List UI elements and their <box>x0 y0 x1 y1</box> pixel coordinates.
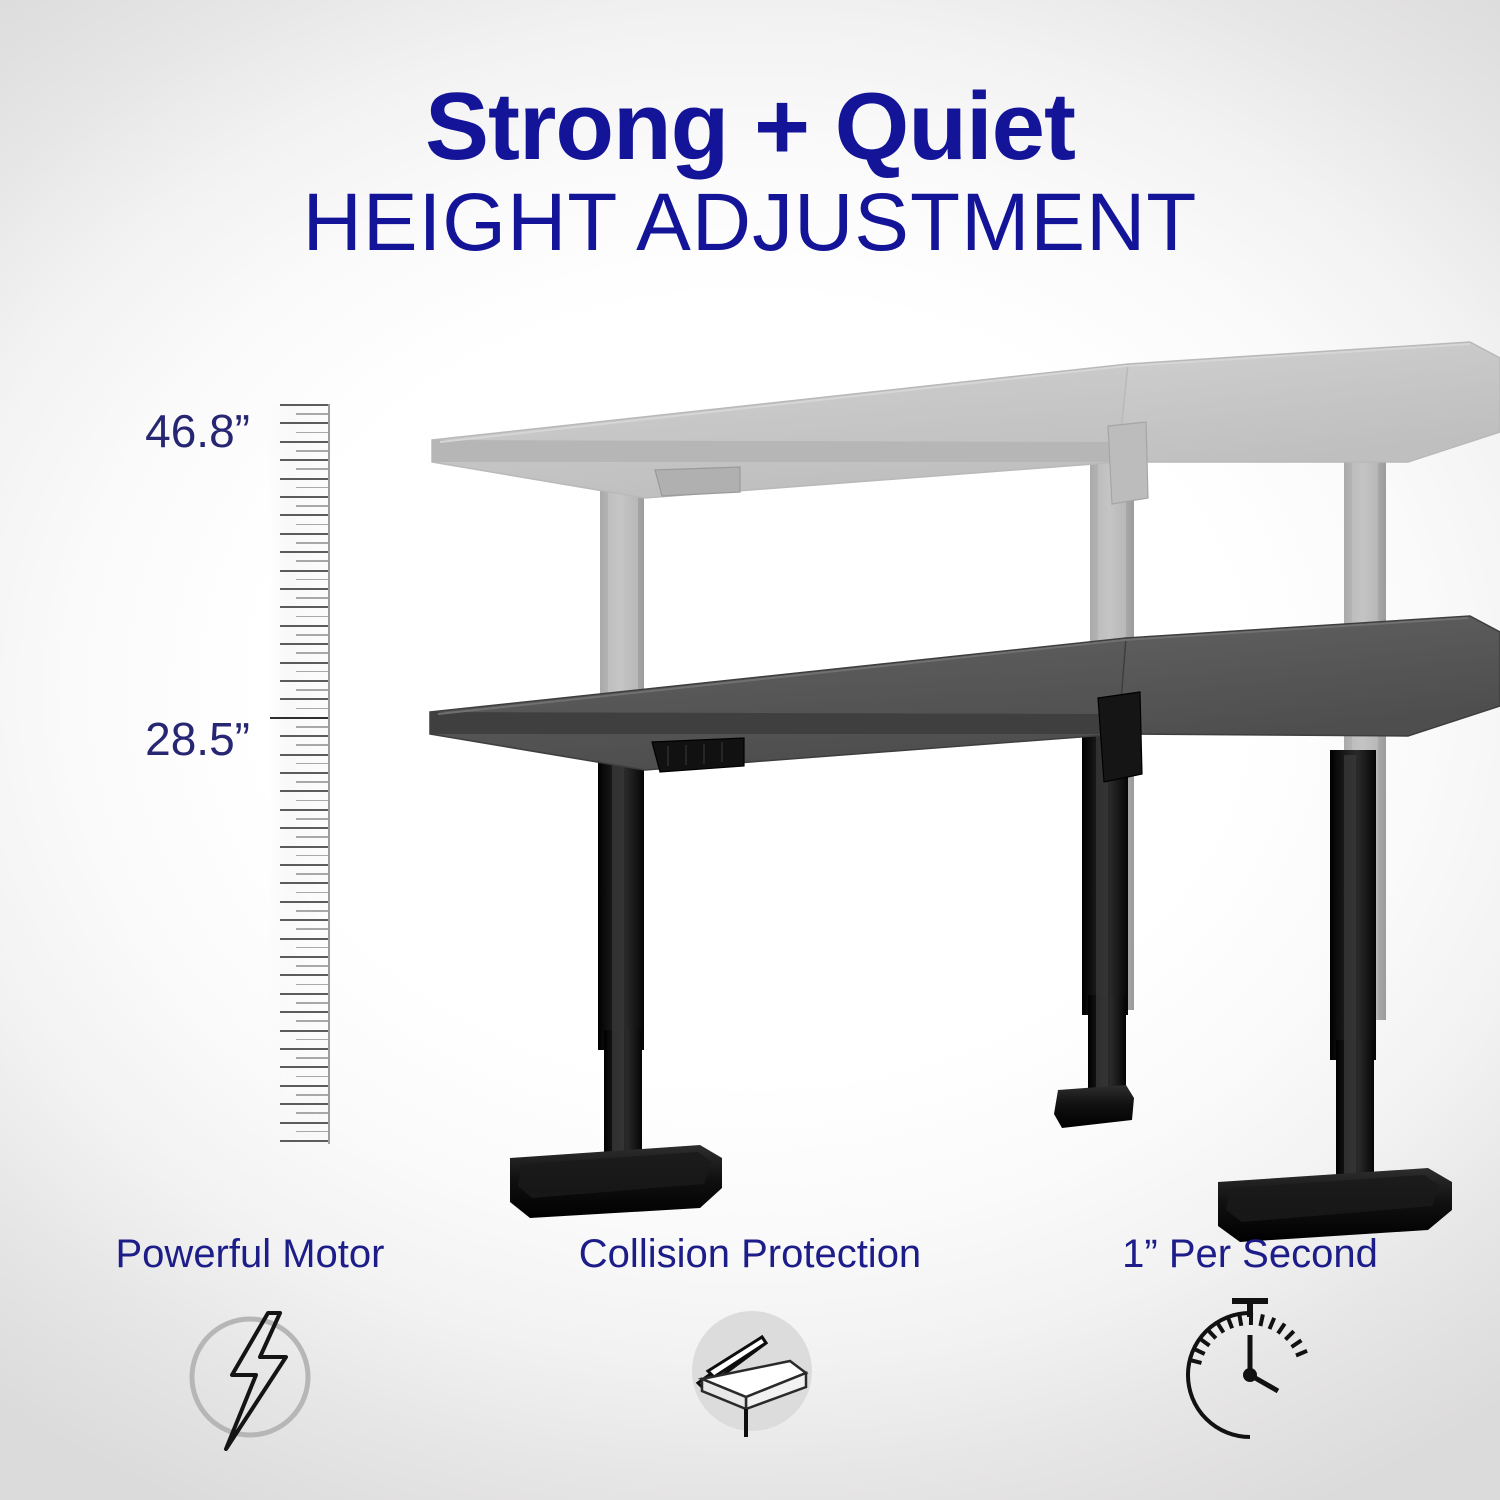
stopwatch-tick <box>1228 1317 1232 1328</box>
stopwatch-tick <box>1292 1340 1302 1347</box>
infographic-canvas: Strong + Quiet HEIGHT ADJUSTMENT 46.8” 2… <box>0 0 1500 1500</box>
lightning-bolt-icon <box>140 1291 360 1471</box>
desk-illustration <box>0 330 1500 1260</box>
lowered-desk-edge-left <box>430 712 1120 734</box>
feature-powerful-motor: Powerful Motor <box>0 1232 500 1471</box>
lowered-desk-group <box>430 616 1500 1242</box>
lowered-desk-keypad <box>652 738 744 772</box>
stopwatch-tick <box>1285 1331 1293 1339</box>
stopwatch-tick <box>1190 1360 1202 1363</box>
desk-collision-icon <box>640 1291 860 1471</box>
stopwatch-tick <box>1200 1339 1210 1346</box>
lowered-desk-motor-box <box>1098 692 1142 782</box>
stopwatch-tick <box>1217 1322 1223 1332</box>
lowered-desk-right-leg <box>1218 750 1452 1242</box>
stopwatch-icon <box>1140 1291 1360 1471</box>
stopwatch-tick <box>1296 1351 1307 1356</box>
stopwatch-tick <box>1194 1349 1205 1354</box>
lowered-desk-surface-right <box>1120 616 1500 736</box>
feature-label-powerful-motor: Powerful Motor <box>0 1232 500 1277</box>
lowered-desk-left-leg <box>510 750 722 1218</box>
raised-desk-keypad <box>655 467 740 496</box>
stopwatch-tick <box>1270 1318 1275 1329</box>
lowered-desk-corner-foot <box>1054 1085 1134 1128</box>
stopwatch-tick <box>1239 1314 1241 1326</box>
stopwatch-tick <box>1208 1330 1216 1339</box>
raised-desk-edge-left <box>432 440 1120 462</box>
raised-desk-surface-right <box>1120 342 1500 462</box>
headline-block: Strong + Quiet HEIGHT ADJUSTMENT <box>0 78 1500 266</box>
stopwatch-tick <box>1278 1324 1285 1334</box>
stopwatch-tick <box>1260 1314 1263 1326</box>
headline-primary: Strong + Quiet <box>0 78 1500 176</box>
feature-speed: 1” Per Second <box>1000 1232 1500 1471</box>
feature-label-speed: 1” Per Second <box>1000 1232 1500 1277</box>
feature-row: Powerful Motor Collision Protection <box>0 1232 1500 1471</box>
raised-desk-motor-box <box>1108 422 1148 504</box>
feature-collision-protection: Collision Protection <box>500 1232 1000 1471</box>
feature-label-collision-protection: Collision Protection <box>500 1232 1000 1277</box>
headline-secondary: HEIGHT ADJUSTMENT <box>0 180 1500 266</box>
